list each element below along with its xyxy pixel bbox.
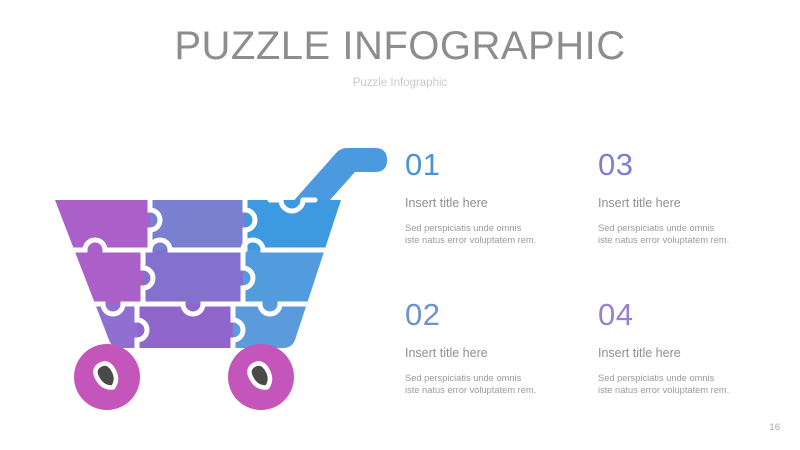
block-number: 03 [598, 148, 773, 182]
block-number: 02 [405, 298, 580, 332]
puzzle-tile-middle-right [243, 250, 395, 304]
puzzle-cart-illustration [45, 122, 395, 417]
page-subtitle: Puzzle Infographic [0, 77, 800, 89]
block-body: Sed perspiciatis unde omnis iste natus e… [405, 372, 580, 397]
block-body: Sed perspiciatis unde omnis iste natus e… [405, 222, 580, 247]
puzzle-tile-middle-center [143, 250, 243, 304]
block-title: Insert title here [405, 346, 580, 361]
block-title: Insert title here [598, 196, 773, 211]
cart-wheel-right [228, 344, 294, 410]
block-body: Sed perspiciatis unde omnis iste natus e… [598, 372, 773, 397]
puzzle-tile-top-right [245, 192, 395, 250]
block-body: Sed perspiciatis unde omnis iste natus e… [598, 222, 773, 247]
block-title: Insert title here [405, 196, 580, 211]
info-block-03: 03 Insert title here Sed perspiciatis un… [598, 148, 773, 247]
info-block-04: 04 Insert title here Sed perspiciatis un… [598, 298, 773, 397]
block-number: 01 [405, 148, 580, 182]
slide: PUZZLE INFOGRAPHIC Puzzle Infographic [0, 0, 800, 450]
puzzle-tile-bottom-left [45, 304, 137, 354]
info-blocks: 01 Insert title here Sed perspiciatis un… [405, 148, 785, 413]
block-title: Insert title here [598, 346, 773, 361]
info-block-01: 01 Insert title here Sed perspiciatis un… [405, 148, 580, 247]
block-number: 04 [598, 298, 773, 332]
page-number: 16 [769, 422, 780, 433]
info-block-02: 02 Insert title here Sed perspiciatis un… [405, 298, 580, 397]
cart-wheel-left [74, 344, 140, 410]
page-title: PUZZLE INFOGRAPHIC [0, 24, 800, 69]
puzzle-tile-middle-left [45, 250, 143, 304]
